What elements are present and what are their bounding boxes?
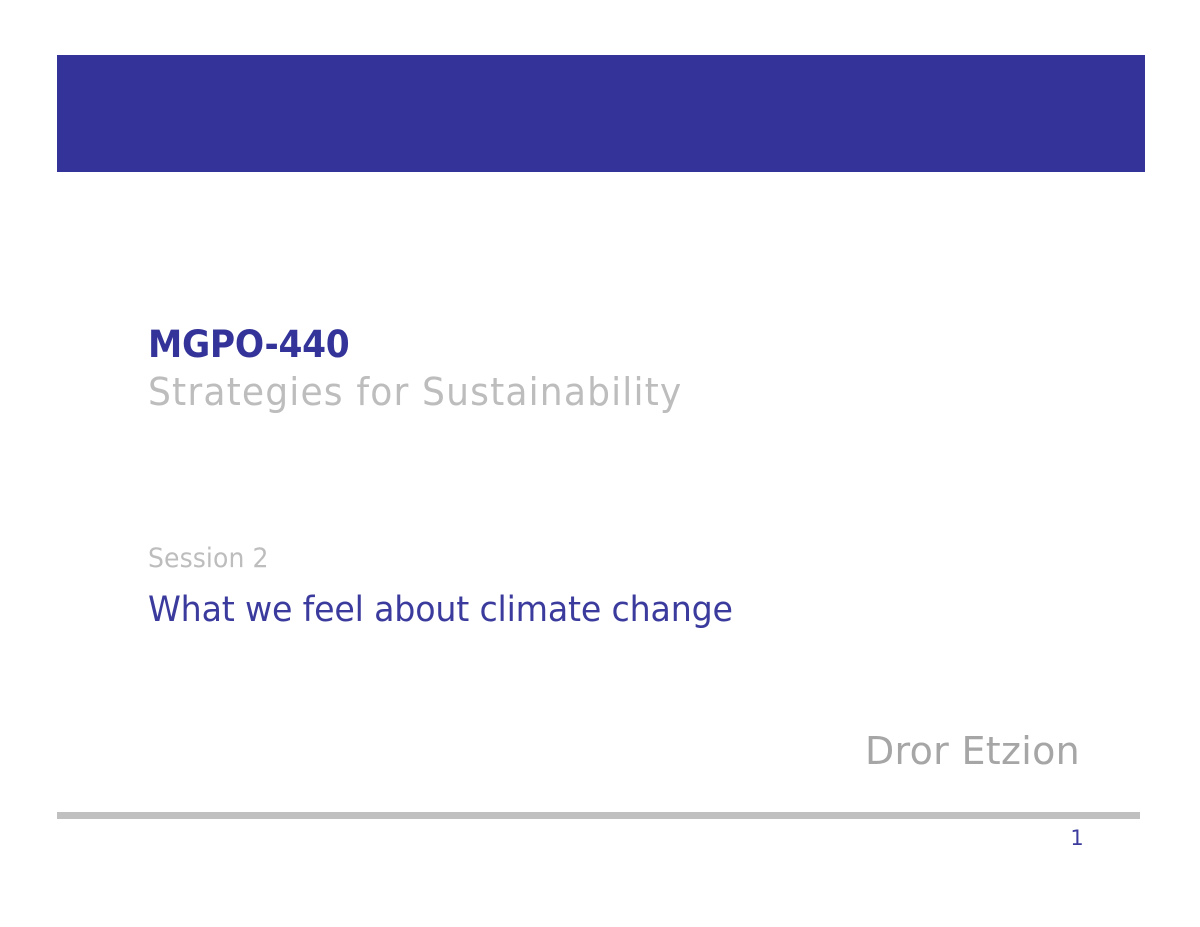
course-subtitle: Strategies for Sustainability (148, 365, 1003, 420)
course-title-block: MGPO-440 Strategies for Sustainability (148, 325, 1048, 420)
header-banner (57, 55, 1145, 172)
page-number: 1 (1062, 826, 1092, 850)
course-code: MGPO-440 (148, 325, 985, 365)
footer-divider (57, 812, 1140, 819)
author-name: Dror Etzion (865, 729, 1080, 773)
slide-canvas: MGPO-440 Strategies for Sustainability S… (0, 0, 1200, 927)
session-title: What we feel about climate change (148, 591, 1003, 630)
session-label: Session 2 (148, 544, 985, 574)
session-block: Session 2 What we feel about climate cha… (148, 544, 1048, 629)
